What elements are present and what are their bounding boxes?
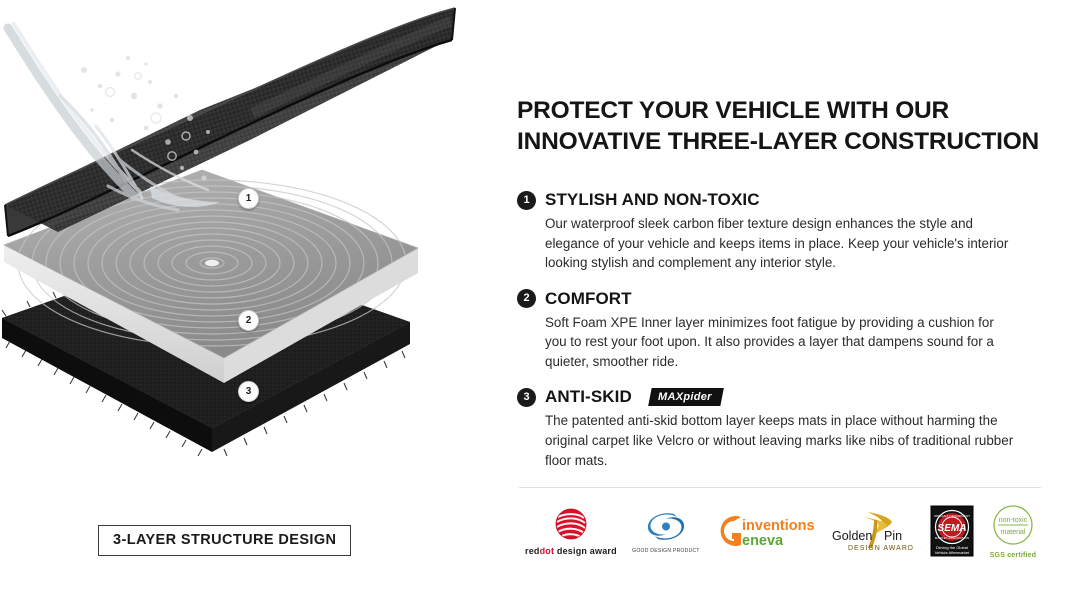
- feature-list: 1 STYLISH AND NON-TOXIC Our waterproof s…: [517, 190, 1037, 486]
- award-badge-golden-pin: Golden Pin DESIGN AWARD: [830, 510, 914, 552]
- award-badge-sema: SEMA SPECIALTY EQUIPMENT MARKET ASSOCIAT…: [930, 505, 974, 557]
- golden-word: Golden: [832, 529, 872, 543]
- award-badge-sgs: non-toxic material SGS certified: [989, 503, 1037, 559]
- inventions-word: inventions: [742, 518, 815, 534]
- golden-pin-logo: Golden Pin DESIGN AWARD: [830, 510, 914, 552]
- award-badge-reddot: reddot design award: [525, 507, 617, 556]
- maxpider-brand-logo: MAXpider: [648, 388, 723, 406]
- reddot-sphere-icon: [551, 507, 591, 543]
- feature-3-header: 3 ANTI-SKID MAXpider: [517, 387, 1037, 407]
- good-design-caption: GOOD DESIGN PRODUCT: [632, 548, 700, 554]
- layer-stack-graphic: [0, 0, 470, 500]
- sema-logo: SEMA SPECIALTY EQUIPMENT MARKET ASSOCIAT…: [930, 505, 974, 557]
- sgs-caption: SGS certified: [990, 552, 1037, 559]
- content-column: PROTECT YOUR VEHICLE WITH OUR INNOVATIVE…: [517, 0, 1047, 608]
- sgs-non-toxic-seal: non-toxic material: [989, 503, 1037, 549]
- good-design-swirl-icon: [644, 509, 688, 545]
- sgs-line-2: material: [1001, 529, 1026, 536]
- feature-1-body: Our waterproof sleek carbon fiber textur…: [545, 214, 1015, 273]
- feature-2-body: Soft Foam XPE Inner layer minimizes foot…: [545, 313, 1015, 372]
- feature-2-number-badge: 2: [517, 289, 536, 308]
- feature-2-title: COMFORT: [545, 289, 632, 309]
- structure-design-label: 3-LAYER STRUCTURE DESIGN: [98, 525, 351, 556]
- maxpider-brand-text: MAXpider: [658, 391, 712, 403]
- sgs-line-1: non-toxic: [999, 517, 1028, 524]
- golden-pin-subtitle: DESIGN AWARD: [848, 545, 914, 552]
- inventions-geneva-logo: inventions eneva: [715, 511, 815, 551]
- feature-item-1: 1 STYLISH AND NON-TOXIC Our waterproof s…: [517, 190, 1037, 273]
- headline-line-2: INNOVATIVE THREE-LAYER CONSTRUCTION: [517, 126, 1045, 157]
- awards-divider: [519, 487, 1041, 488]
- sema-bottom-line-2: Vehicle Aftermarket: [934, 550, 969, 555]
- reddot-caption: reddot design award: [525, 546, 617, 556]
- award-badge-inventions-geneva: inventions eneva: [715, 511, 815, 551]
- feature-item-2: 2 COMFORT Soft Foam XPE Inner layer mini…: [517, 289, 1037, 372]
- headline-line-1: PROTECT YOUR VEHICLE WITH OUR: [517, 95, 1045, 126]
- callout-marker-3: 3: [238, 381, 259, 402]
- infographic-page: 1 2 3 3-LAYER STRUCTURE DESIGN PROTECT Y…: [0, 0, 1080, 608]
- feature-3-number-badge: 3: [517, 388, 536, 407]
- reddot-word-dot: dot: [540, 546, 555, 556]
- page-title: PROTECT YOUR VEHICLE WITH OUR INNOVATIVE…: [517, 95, 1045, 158]
- feature-item-3: 3 ANTI-SKID MAXpider The patented anti-s…: [517, 387, 1037, 470]
- feature-3-body: The patented anti-skid bottom layer keep…: [545, 411, 1015, 470]
- pin-word: Pin: [884, 529, 902, 543]
- award-badge-row: reddot design award GOOD DESIGN PRODUCT …: [517, 496, 1045, 566]
- reddot-word-award: design award: [554, 546, 617, 556]
- sema-top-text: SPECIALTY EQUIPMENT: [934, 514, 970, 518]
- feature-1-title: STYLISH AND NON-TOXIC: [545, 190, 760, 210]
- sema-ring-bottom-text: MARKET ASSOCIATION: [934, 536, 968, 540]
- feature-1-header: 1 STYLISH AND NON-TOXIC: [517, 190, 1037, 210]
- reddot-word-red: red: [525, 546, 540, 556]
- callout-marker-1: 1: [238, 188, 259, 209]
- feature-1-number-badge: 1: [517, 191, 536, 210]
- three-layer-illustration: 1 2 3: [0, 0, 470, 500]
- award-badge-good-design: GOOD DESIGN PRODUCT: [632, 509, 700, 554]
- sema-wordmark: SEMA: [937, 523, 966, 534]
- callout-marker-2: 2: [238, 310, 259, 331]
- geneva-word: eneva: [742, 533, 784, 549]
- feature-3-title: ANTI-SKID: [545, 387, 632, 407]
- feature-2-header: 2 COMFORT: [517, 289, 1037, 309]
